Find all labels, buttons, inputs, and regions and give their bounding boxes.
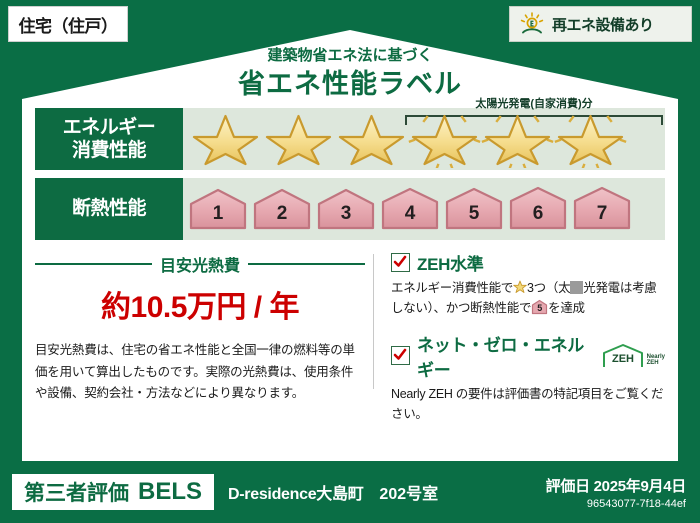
insulation-levels-area: 1 2 3 [183,178,665,240]
star-icon [189,110,262,168]
evaluation-date: 評価日 2025年9月4日 [546,475,686,496]
svg-text:ZEH: ZEH [612,353,634,365]
footer-bar: 第三者評価 BELS D-residence大島町 202号室 評価日 2025… [0,461,700,523]
insulation-performance-row: 断熱性能 1 [35,178,665,240]
insulation-label-box: 断熱性能 [35,178,183,240]
bels-jp-label: 第三者評価 [24,477,129,507]
zeh-logo-sub2: ZEH [647,360,665,366]
solar-bracket-label: 太陽光発電(自家消費)分 [405,95,663,111]
renewable-equipment-badge: 再エネ設備あり [509,6,692,42]
utility-cost-note: 目安光熱費は、住宅の省エネ性能と全国一律の燃料等の単価を用いて算出したものです。… [35,340,365,405]
building-name: D-residence大島町 [228,480,363,504]
house-level-number: 2 [277,203,288,232]
housing-type-chip: 住宅（住戸） [8,6,128,42]
house-level-number: 6 [533,203,544,232]
evaluation-info: 評価日 2025年9月4日 96543077-7f18-44ef [546,475,686,510]
utility-cost-value: 約10.5万円 / 年 [35,282,365,326]
room-number: 202号室 [379,480,438,504]
zeh-level-title: ZEH水準 [417,250,484,275]
bels-en-label: BELS [138,478,202,506]
star-icon [335,110,408,168]
star-icon-solar [408,110,481,168]
energy-label-line2: 消費性能 [72,139,146,162]
insulation-label: 断熱性能 [72,197,146,220]
energy-label-line1: エネルギー [63,116,156,139]
checkbox-checked-icon [391,253,410,272]
vertical-divider [373,254,374,389]
house-icon: 7 [571,186,633,232]
house-level-number: 5 [469,203,480,232]
insulation-rating: 1 2 3 [183,186,633,232]
house-icon: 5 [443,186,505,232]
housing-type-text: 住宅（住戸） [19,12,118,37]
energy-stars-area: 太陽光発電(自家消費)分 [183,108,665,170]
net-zero-description: Nearly ZEH の要件は評価書の特記項目をご覧ください。 [391,384,665,425]
house-icon: 3 [315,186,377,232]
energy-performance-label: 住宅（住戸） 再エネ設備あり 建築物省エネ法に基づく 省エネ性能ラベル [0,0,700,523]
sun-icon [519,12,545,36]
star-icon-solar [554,110,627,168]
energy-performance-row: エネルギー 消費性能 太陽光発電(自家消費)分 [35,108,665,170]
evaluation-id: 96543077-7f18-44ef [546,498,686,510]
utility-cost-heading: 目安光熱費 [35,252,365,276]
house-icon: 2 [251,186,313,232]
house-icon: 4 [379,186,441,232]
house-level-number: 7 [597,203,608,232]
inline-star-icon [513,280,527,294]
net-zero-heading: ネット・ゼロ・エネルギー ZEH Nearly ZEH [391,331,665,381]
inline-house-level: 5 [531,301,548,316]
inline-house-icon: 5 [531,299,548,315]
heading-rule-left [35,263,152,265]
house-level-number: 4 [405,203,416,232]
masked-character [570,281,583,294]
star-icon-solar [481,110,554,168]
zeh-desc-part2: 3つ（太 [527,281,570,295]
star-icon [262,110,335,168]
zeh-desc-part4: を達成 [548,301,585,315]
heading-rule-right [248,263,365,265]
star-rating [183,110,627,168]
checkbox-checked-icon [391,346,410,365]
zeh-level-description: エネルギー消費性能で3つ（太光発電は考慮しない）、かつ断熱性能で5を達成 [391,278,665,319]
zeh-logo: ZEH Nearly ZEH [601,343,665,369]
house-icon: 1 [187,186,249,232]
zeh-desc-part1: エネルギー消費性能で [391,281,513,295]
house-level-number: 1 [213,203,224,232]
zeh-level-heading: ZEH水準 [391,250,665,275]
renewable-badge-label: 再エネ設備あり [552,14,654,35]
rating-rows: エネルギー 消費性能 太陽光発電(自家消費)分 [35,108,665,248]
house-icon: 6 [507,186,569,232]
energy-performance-label-box: エネルギー 消費性能 [35,108,183,170]
bels-chip: 第三者評価 BELS [12,474,214,510]
net-zero-title: ネット・ゼロ・エネルギー [417,331,592,381]
house-level-number: 3 [341,203,352,232]
utility-cost-title: 目安光熱費 [160,252,240,276]
